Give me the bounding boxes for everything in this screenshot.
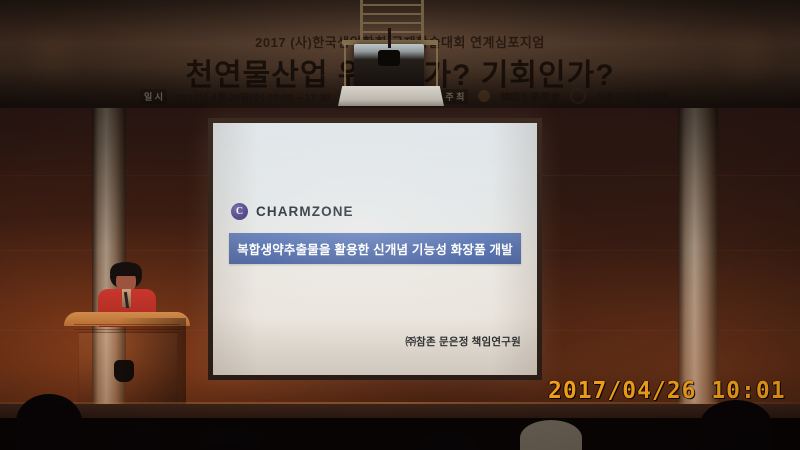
audience-head [16, 394, 82, 450]
speaker-fringe [110, 263, 142, 276]
slide-title: 복합생약추출물을 활용한 신개념 기능성 화장품 개발 [237, 239, 513, 258]
audience-head [108, 426, 166, 450]
banner-date-value: 2017년 4월 26일(수) 09:00 ~ 17:30 [177, 89, 330, 104]
audience-head [700, 400, 772, 450]
projector [354, 44, 424, 90]
host-logo-icon [478, 90, 490, 102]
projector-lens-icon [378, 50, 400, 66]
audience-head [200, 428, 260, 450]
charmzone-logo-icon: C [231, 203, 248, 220]
projection-screen: C CHARMZONE 복합생약추출물을 활용한 신개념 기능성 화장품 개발 … [208, 118, 542, 380]
ceiling-panel [338, 86, 444, 106]
slide-title-bar: 복합생약추출물을 활용한 신개념 기능성 화장품 개발 [229, 233, 521, 264]
slide-presenter-credit: ㈜참존 문은정 책임연구원 [405, 334, 521, 349]
camera-timestamp: 2017/04/26 10:01 [548, 378, 786, 404]
presentation-photo: 2017 (사)한국생약학회 국제학술대회 연계심포지엄 천연물산업 위기인가?… [0, 0, 800, 450]
rig-wire [344, 44, 346, 90]
ceiling-projector-rig [332, 0, 452, 108]
audience-head [420, 432, 476, 450]
host-logo-icon [570, 88, 586, 104]
pillar-shading [678, 108, 718, 418]
banner-host-1: 韓國生藥學會 [500, 89, 560, 104]
pillar-right [678, 108, 718, 418]
audience-head [520, 420, 582, 450]
projector-arm [388, 28, 391, 48]
brand-logo: C CHARMZONE [231, 203, 354, 220]
audience-head [640, 426, 694, 450]
rig-wire [436, 44, 438, 90]
truss-icon [360, 0, 424, 44]
presentation-slide: C CHARMZONE 복합생약추출물을 활용한 신개념 기능성 화장품 개발 … [213, 123, 537, 375]
banner-host-2: 식품의약품안전처 [596, 89, 670, 104]
brand-name: CHARMZONE [256, 204, 354, 219]
banner-date-label: 일 시 [140, 89, 167, 104]
